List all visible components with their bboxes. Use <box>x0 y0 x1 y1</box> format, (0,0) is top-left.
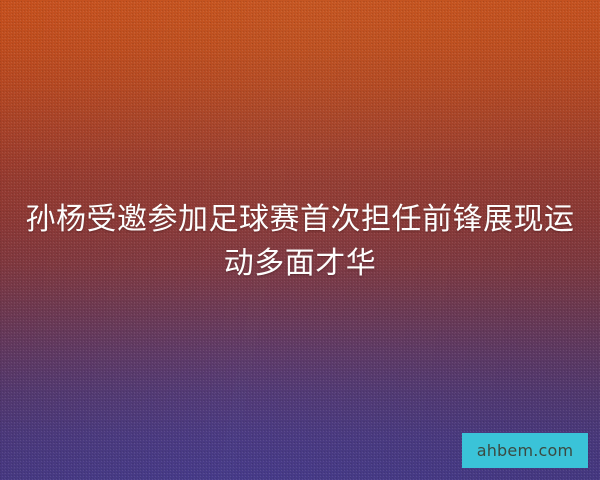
headline-line-2: 动多面才华 <box>24 242 576 286</box>
site-watermark-label: ahbem.com <box>477 443 574 459</box>
headline-text: 孙杨受邀参加足球赛首次担任前锋展现运 动多面才华 <box>24 198 576 286</box>
site-watermark-badge[interactable]: ahbem.com <box>462 433 588 468</box>
image-canvas: 孙杨受邀参加足球赛首次担任前锋展现运 动多面才华 ahbem.com <box>0 0 600 480</box>
headline-line-1: 孙杨受邀参加足球赛首次担任前锋展现运 <box>24 198 576 242</box>
